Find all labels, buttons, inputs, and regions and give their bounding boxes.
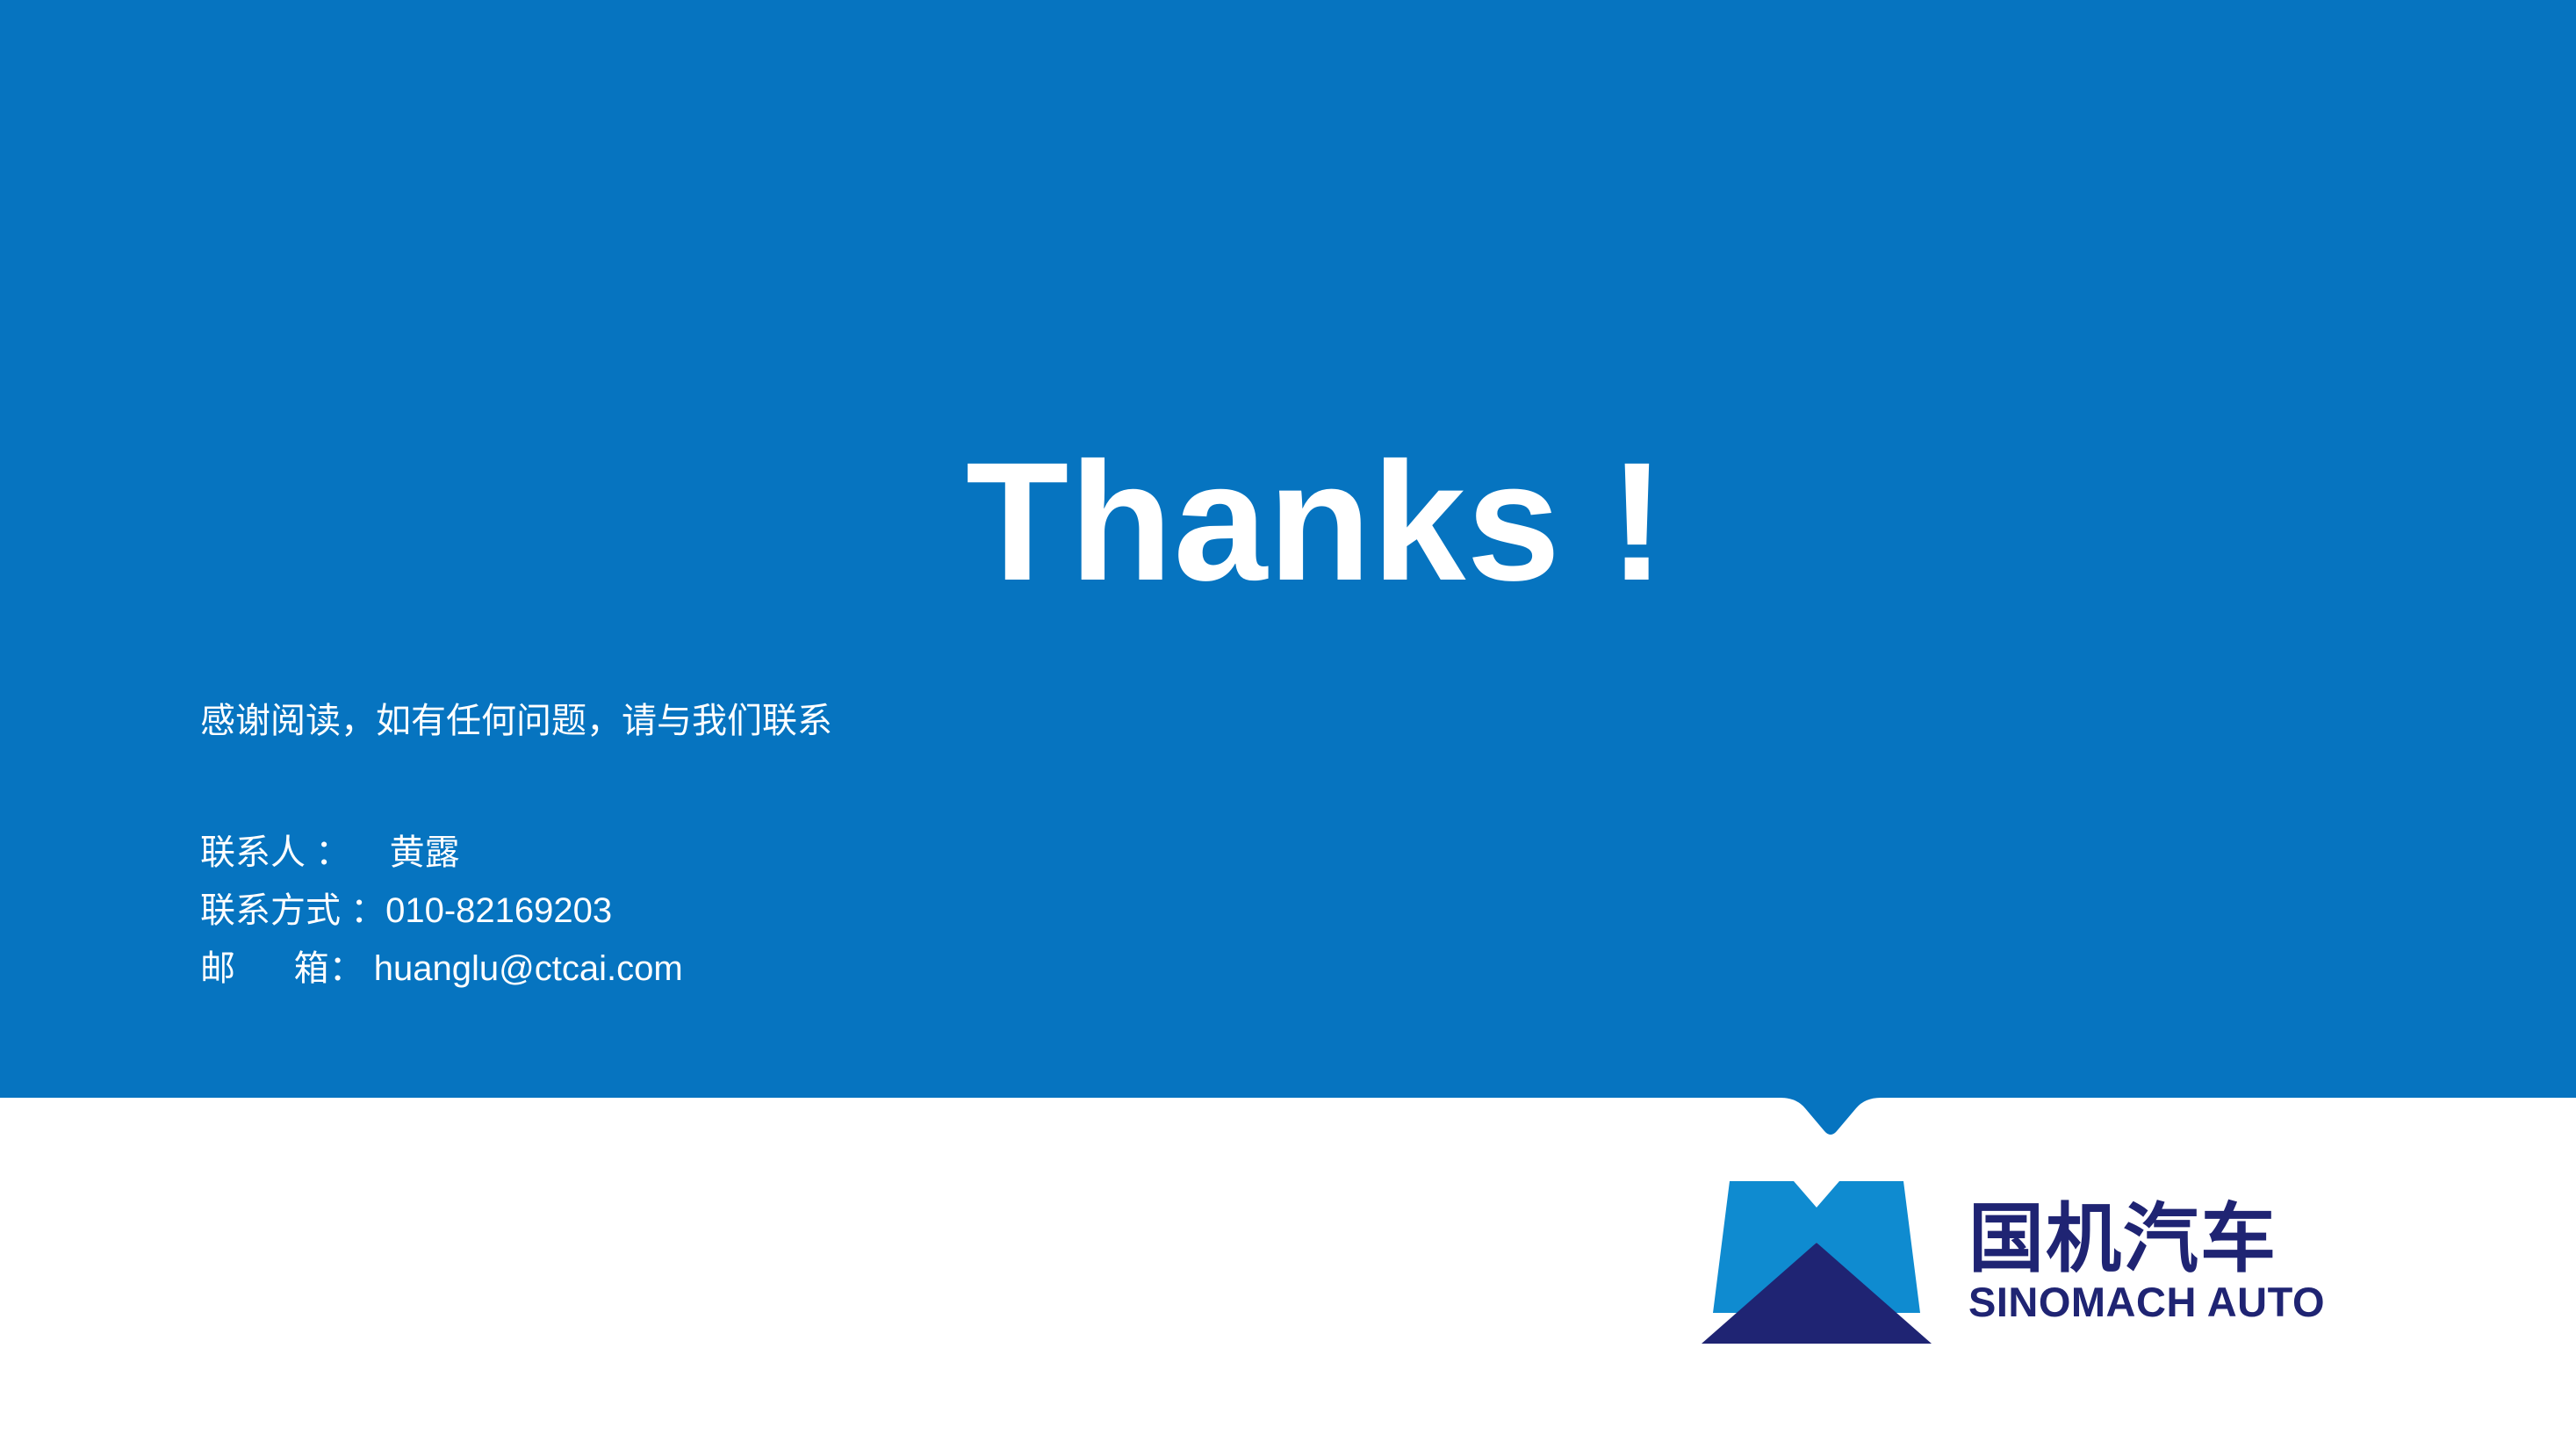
panel-bottom-v-notch xyxy=(1781,1096,1881,1136)
logo-english-name: SINOMACH AUTO xyxy=(1968,1281,2325,1323)
logo-wordmark: 国机汽车 SINOMACH AUTO xyxy=(1968,1202,2325,1323)
contact-email-line: 邮 箱： huanglu@ctcai.com xyxy=(200,940,683,998)
contact-info-block: 联系人 ： 黄露 联系方式 ：010-82169203 邮 箱： huanglu… xyxy=(200,824,683,998)
slide-canvas: Thanks ! 感谢阅读，如有任何问题，请与我们联系 联系人 ： 黄露 联系方… xyxy=(0,0,2576,1449)
logo-chinese-name: 国机汽车 xyxy=(1968,1202,2325,1276)
sinomach-mountain-mark-icon xyxy=(1702,1181,1932,1344)
contact-person-line: 联系人 ： 黄露 xyxy=(200,824,683,882)
company-logo: 国机汽车 SINOMACH AUTO xyxy=(1702,1177,2334,1348)
page-title: Thanks ! xyxy=(966,437,1666,606)
subtitle-text: 感谢阅读，如有任何问题，请与我们联系 xyxy=(200,699,832,743)
contact-phone-line: 联系方式 ：010-82169203 xyxy=(200,882,683,940)
